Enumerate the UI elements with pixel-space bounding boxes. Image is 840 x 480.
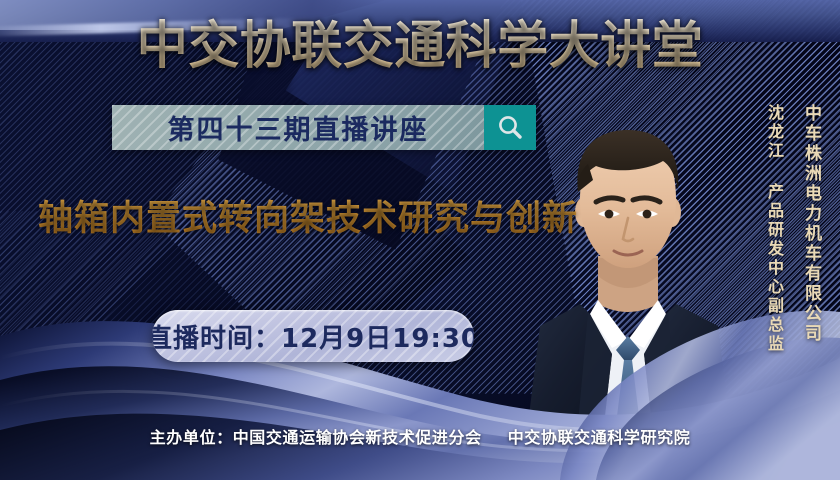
broadcast-time-text: 直播时间：12月9日19:30 xyxy=(152,318,474,355)
lecture-topic: 轴箱内置式转向架技术研究与创新 xyxy=(38,196,578,242)
subtitle-label: 第四十三期直播讲座 xyxy=(168,108,429,147)
live-lecture-poster: 中交协联交通科学大讲堂 中交协联交通科学大讲堂 第四十三期直播讲座 轴箱内置式转… xyxy=(0,0,840,480)
organizer-name-1: 中国交通运输协会新技术促进分会 xyxy=(233,428,482,447)
organizer-prefix: 主办单位： xyxy=(150,428,233,447)
speaker-name-role: 沈龙江 产品研发中心副总监 xyxy=(762,104,786,354)
speaker-company: 中车株洲电力机车有限公司 xyxy=(799,104,824,344)
subtitle-bar: 第四十三期直播讲座 xyxy=(112,105,536,150)
organizer-footer: 主办单位：中国交通运输协会新技术促进分会中交协联交通科学研究院 xyxy=(0,424,840,448)
subtitle-bar-body: 第四十三期直播讲座 xyxy=(112,105,484,150)
main-title: 中交协联交通科学大讲堂 xyxy=(0,16,840,78)
broadcast-time-pill: 直播时间：12月9日19:30 xyxy=(152,310,474,362)
organizer-name-2: 中交协联交通科学研究院 xyxy=(508,428,691,447)
search-icon[interactable] xyxy=(484,105,536,150)
